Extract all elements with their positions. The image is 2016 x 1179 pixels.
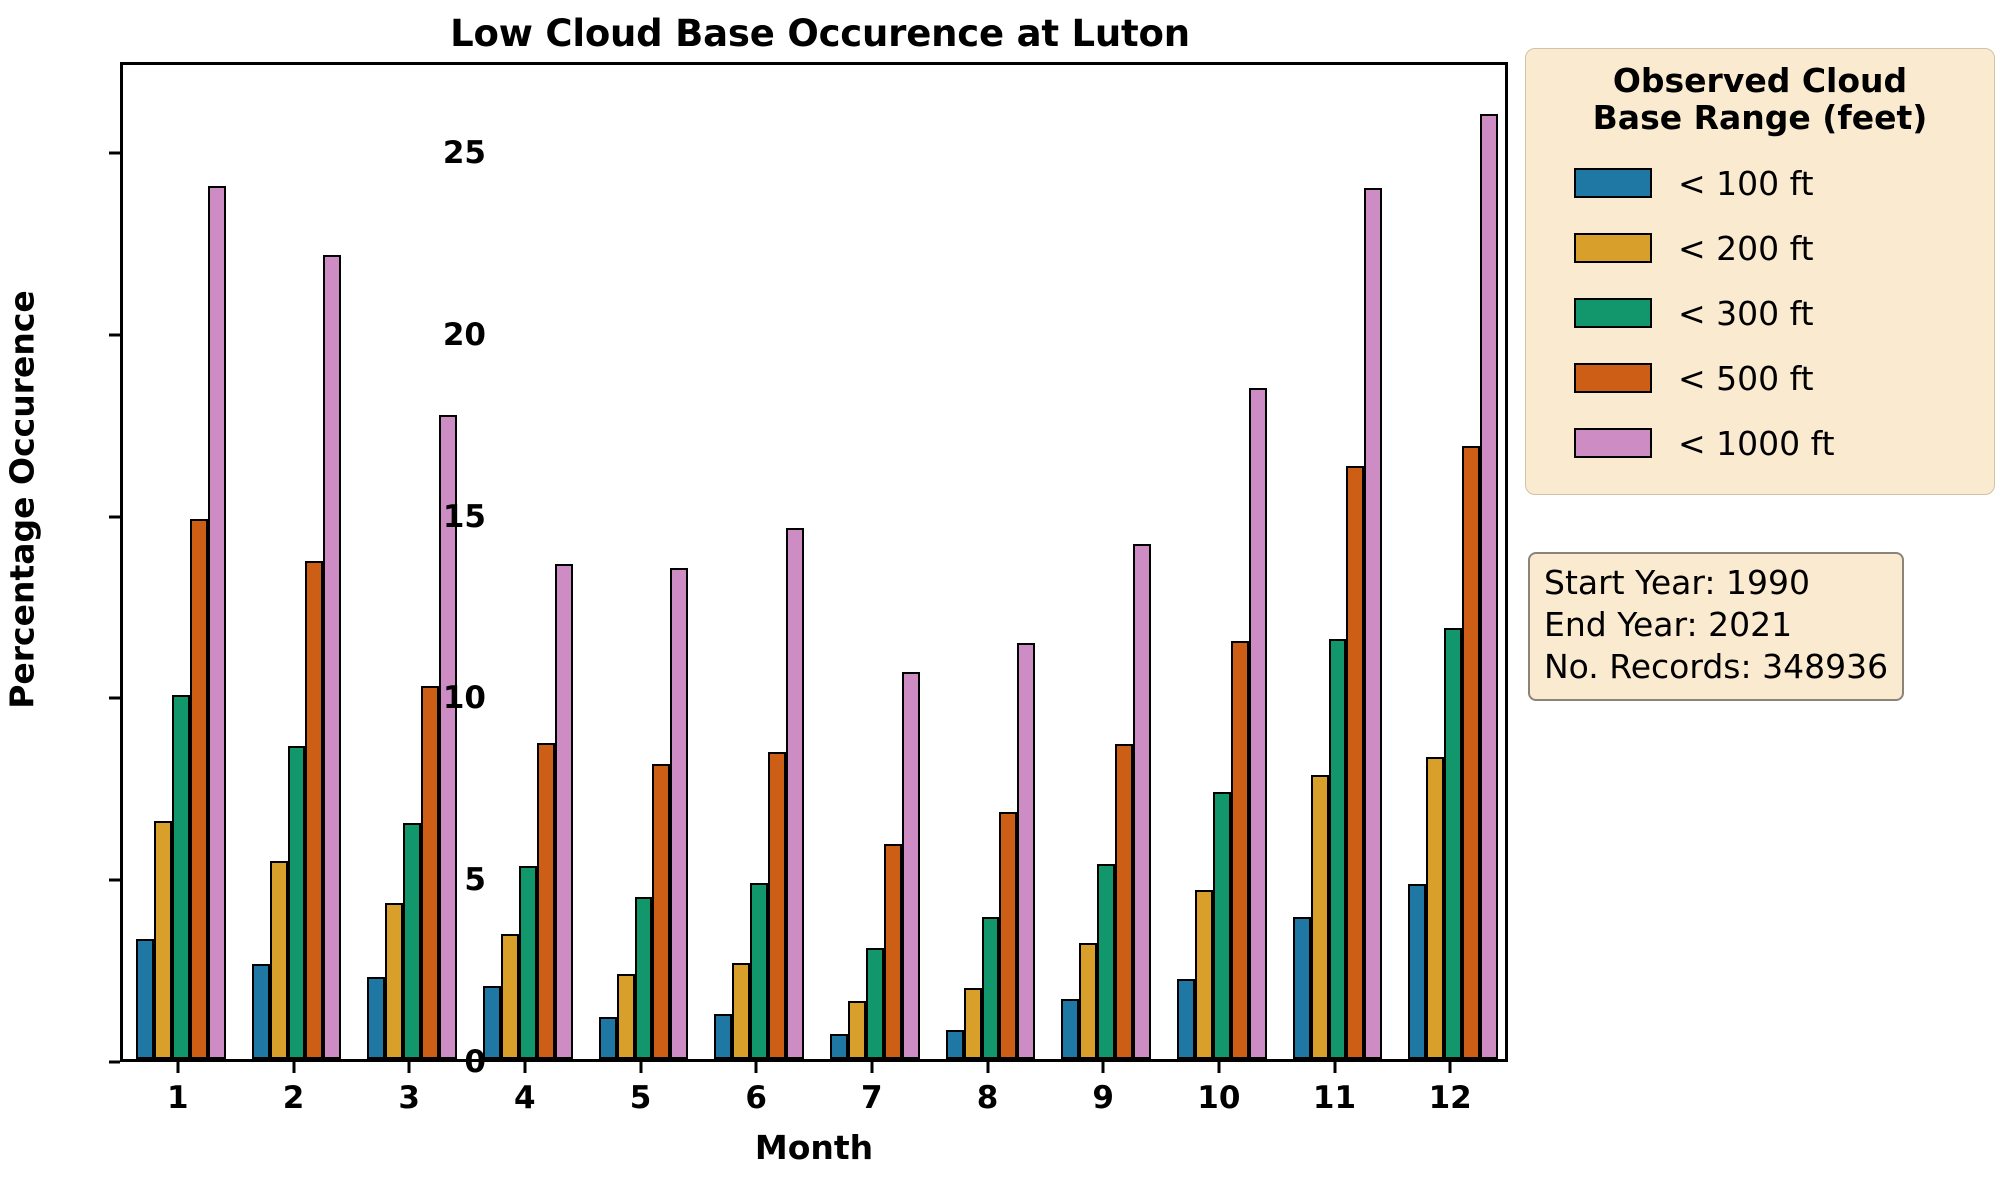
- bar: [1249, 388, 1267, 1059]
- bar: [884, 844, 902, 1059]
- x-tick-mark: [408, 1062, 411, 1073]
- info-start-year: Start Year: 1990: [1544, 562, 1888, 604]
- x-tick-mark: [1217, 1062, 1220, 1073]
- bar: [635, 897, 653, 1059]
- bar: [136, 939, 154, 1059]
- x-tick-mark: [1449, 1062, 1452, 1073]
- bar: [1195, 890, 1213, 1059]
- bar: [1444, 628, 1462, 1059]
- legend-swatch-icon: [1574, 233, 1652, 263]
- bar: [599, 1017, 617, 1059]
- bar: [1133, 544, 1151, 1059]
- x-tick-mark: [1333, 1062, 1336, 1073]
- y-tick-label: 25: [426, 135, 486, 171]
- bar: [1480, 114, 1498, 1059]
- bar: [1231, 641, 1249, 1059]
- legend-title: Observed Cloud Base Range (feet): [1536, 63, 1984, 137]
- legend-item[interactable]: < 300 ft: [1536, 281, 1984, 346]
- info-record-count: No. Records: 348936: [1544, 646, 1888, 688]
- y-tick-label: 10: [426, 680, 486, 716]
- bar: [208, 186, 226, 1059]
- bar: [964, 988, 982, 1059]
- legend-swatch-icon: [1574, 298, 1652, 328]
- bar: [1426, 757, 1444, 1059]
- bar: [501, 934, 519, 1059]
- legend-swatch-icon: [1574, 363, 1652, 393]
- bar: [367, 977, 385, 1059]
- x-tick-mark: [755, 1062, 758, 1073]
- bar: [617, 974, 635, 1059]
- bar: [848, 1001, 866, 1059]
- legend-item[interactable]: < 500 ft: [1536, 346, 1984, 411]
- bar: [252, 964, 270, 1059]
- bar: [1329, 639, 1347, 1059]
- bar: [1293, 917, 1311, 1059]
- bar: [154, 821, 172, 1059]
- y-tick-mark: [109, 515, 120, 518]
- legend-item-label: < 1000 ft: [1678, 424, 1835, 463]
- x-tick-mark: [639, 1062, 642, 1073]
- bar: [1364, 188, 1382, 1059]
- page-title: Low Cloud Base Occurence at Luton: [120, 12, 1520, 55]
- bar: [519, 866, 537, 1059]
- x-tick-mark: [986, 1062, 989, 1073]
- bar: [1115, 744, 1133, 1059]
- y-tick-mark: [109, 879, 120, 882]
- bar: [403, 823, 421, 1059]
- bar: [670, 568, 688, 1059]
- bar: [172, 695, 190, 1059]
- legend-item[interactable]: < 200 ft: [1536, 216, 1984, 281]
- x-tick-label: 7: [837, 1080, 907, 1116]
- bar: [750, 883, 768, 1059]
- y-tick-label: 20: [426, 317, 486, 353]
- bar: [714, 1014, 732, 1059]
- bar: [1061, 999, 1079, 1059]
- bar: [1097, 864, 1115, 1059]
- x-tick-label: 3: [374, 1080, 444, 1116]
- bar: [999, 812, 1017, 1059]
- bar: [1346, 466, 1364, 1059]
- bar: [305, 561, 323, 1059]
- x-tick-label: 9: [1068, 1080, 1138, 1116]
- bar: [1311, 775, 1329, 1059]
- legend-title-line-2: Base Range (feet): [1536, 100, 1984, 137]
- bar: [270, 861, 288, 1059]
- x-tick-mark: [523, 1062, 526, 1073]
- legend-swatch-icon: [1574, 168, 1652, 198]
- x-axis-label: Month: [120, 1128, 1508, 1167]
- y-tick-label: 5: [426, 862, 486, 898]
- bar: [786, 528, 804, 1059]
- bar: [190, 519, 208, 1059]
- legend-item[interactable]: < 100 ft: [1536, 151, 1984, 216]
- x-tick-mark: [870, 1062, 873, 1073]
- x-tick-mark: [176, 1062, 179, 1073]
- legend-item-label: < 200 ft: [1678, 229, 1814, 268]
- legend-swatch-icon: [1574, 428, 1652, 458]
- figure-canvas: Low Cloud Base Occurence at Luton 051015…: [0, 0, 2016, 1179]
- y-tick-mark: [109, 697, 120, 700]
- bar: [982, 917, 1000, 1059]
- bar: [323, 255, 341, 1059]
- x-tick-label: 1: [143, 1080, 213, 1116]
- bar: [652, 764, 670, 1059]
- legend: Observed Cloud Base Range (feet) < 100 f…: [1525, 48, 1995, 495]
- legend-rows: < 100 ft< 200 ft< 300 ft< 500 ft< 1000 f…: [1536, 151, 1984, 476]
- x-tick-label: 6: [721, 1080, 791, 1116]
- legend-item-label: < 100 ft: [1678, 164, 1814, 203]
- bar: [830, 1034, 848, 1059]
- x-tick-label: 5: [606, 1080, 676, 1116]
- x-tick-label: 10: [1184, 1080, 1254, 1116]
- x-tick-label: 2: [259, 1080, 329, 1116]
- y-tick-label: 0: [426, 1044, 486, 1080]
- x-tick-label: 4: [490, 1080, 560, 1116]
- info-end-year: End Year: 2021: [1544, 604, 1888, 646]
- bar: [1213, 792, 1231, 1059]
- x-tick-mark: [292, 1062, 295, 1073]
- bar: [902, 672, 920, 1059]
- info-box: Start Year: 1990 End Year: 2021 No. Reco…: [1528, 552, 1904, 701]
- plot-area: [120, 62, 1508, 1062]
- legend-item-label: < 500 ft: [1678, 359, 1814, 398]
- bar: [768, 752, 786, 1059]
- bar: [1177, 979, 1195, 1059]
- legend-item[interactable]: < 1000 ft: [1536, 411, 1984, 476]
- y-tick-mark: [109, 151, 120, 154]
- x-tick-label: 11: [1300, 1080, 1370, 1116]
- legend-title-line-1: Observed Cloud: [1536, 63, 1984, 100]
- bar: [866, 948, 884, 1059]
- bar: [555, 564, 573, 1059]
- bar: [1462, 446, 1480, 1059]
- legend-item-label: < 300 ft: [1678, 294, 1814, 333]
- bar: [385, 903, 403, 1059]
- bar: [946, 1030, 964, 1059]
- bar: [537, 743, 555, 1059]
- bar: [288, 746, 306, 1059]
- y-tick-mark: [109, 333, 120, 336]
- bar: [1017, 643, 1035, 1059]
- x-tick-mark: [1102, 1062, 1105, 1073]
- bars-layer: [123, 65, 1505, 1059]
- y-tick-mark: [109, 1061, 120, 1064]
- x-tick-label: 12: [1415, 1080, 1485, 1116]
- y-tick-label: 15: [426, 499, 486, 535]
- bar: [1408, 884, 1426, 1059]
- x-tick-label: 8: [953, 1080, 1023, 1116]
- y-axis-label: Percentage Occurence: [3, 130, 42, 870]
- bar: [1079, 943, 1097, 1059]
- bar: [732, 963, 750, 1059]
